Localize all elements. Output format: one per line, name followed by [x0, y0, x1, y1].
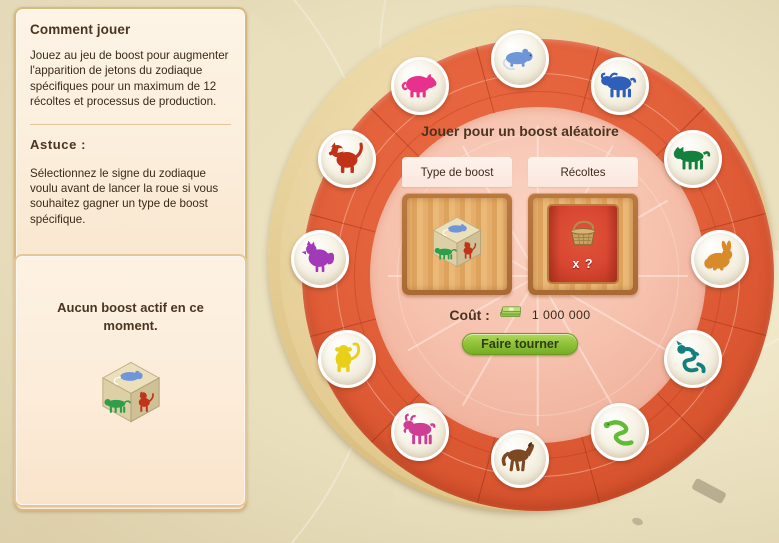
boost-wheel-screen: Comment jouer Jouez au jeu de boost pour…	[0, 0, 779, 543]
zodiac-token-rabbit[interactable]	[691, 230, 749, 288]
basket-icon	[563, 218, 603, 255]
cost-label: Coût :	[449, 307, 489, 323]
boost-type-slot[interactable]: Type de boost	[402, 157, 512, 295]
boost-type-inner	[407, 198, 507, 290]
zodiac-wheel[interactable]: Jouer pour un boost aléatoire Type de bo…	[262, 2, 779, 543]
harvest-plate: x ?	[547, 204, 619, 284]
harvest-frame: x ?	[528, 193, 638, 295]
zodiac-token-rat[interactable]	[491, 30, 549, 88]
rooster-icon	[299, 238, 341, 280]
harvest-label: Récoltes	[528, 157, 638, 187]
zodiac-dice-icon	[426, 211, 488, 278]
active-boost-message: Aucun boost actif en ce moment.	[41, 299, 221, 335]
boost-slots: Type de boost	[402, 157, 638, 295]
help-panel-text: Jouez au jeu de boost pour augmenter l'a…	[30, 48, 233, 110]
cost-amount: 1 000 000	[532, 308, 591, 322]
harvest-count: x ?	[572, 257, 593, 271]
zodiac-dice-icon	[94, 355, 168, 434]
zodiac-token-horse[interactable]	[491, 430, 549, 488]
help-panel-tip-title: Astuce :	[30, 137, 233, 152]
help-panel-tip-text: Sélectionnez le signe du zodiaque voulu …	[30, 166, 233, 228]
wheel-center-panel: Jouer pour un boost aléatoire Type de bo…	[352, 91, 688, 427]
active-boost-card: Aucun boost actif en ce moment.	[14, 254, 247, 507]
rabbit-icon	[699, 238, 741, 280]
boost-type-frame	[402, 193, 512, 295]
help-panel-title: Comment jouer	[30, 22, 233, 37]
zodiac-token-rooster[interactable]	[291, 230, 349, 288]
harvest-inner: x ?	[533, 198, 633, 290]
money-stack-icon	[500, 305, 522, 324]
rat-icon	[499, 38, 541, 80]
boost-type-label: Type de boost	[402, 157, 512, 187]
spin-button[interactable]: Faire tourner	[462, 333, 578, 355]
wheel-title: Jouer pour un boost aléatoire	[395, 122, 645, 141]
cost-row: Coût : 1 000 000	[395, 305, 645, 324]
horse-icon	[499, 438, 541, 480]
help-panel-divider	[30, 124, 231, 125]
harvest-slot[interactable]: Récoltes	[528, 157, 638, 295]
